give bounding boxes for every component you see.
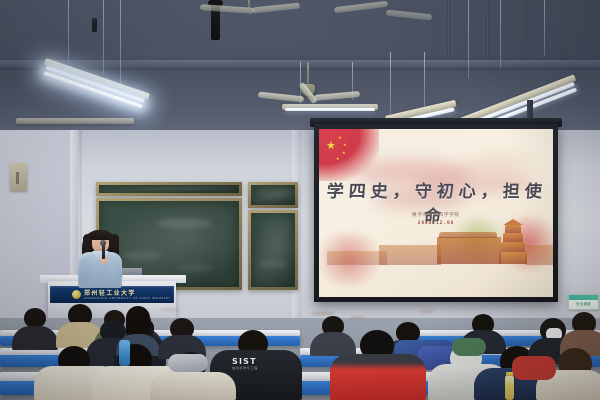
chalkboard-upper-left: [96, 182, 242, 196]
light-suspension-rod: [544, 0, 545, 56]
green-scarf: [452, 338, 486, 356]
artwork-hall-building: [437, 237, 501, 264]
wall-sensor: [92, 18, 97, 32]
sist-jacket-text: SIST: [232, 357, 257, 366]
artwork-foreground: [379, 245, 441, 265]
light-suspension-rod: [68, 0, 69, 62]
light-suspension-rod: [120, 0, 121, 88]
chalkboard-upper-right: [248, 182, 298, 208]
water-bottle: [505, 376, 514, 400]
microphone-head: [100, 240, 106, 246]
light-suspension-rod: [468, 0, 469, 78]
exit-sign-bar: [569, 295, 598, 300]
exit-sign-text: 安全通道: [569, 301, 598, 306]
lectern-banner-text-en: ZHENGZHOU UNIVERSITY OF LIGHT INDUSTRY: [84, 296, 170, 300]
red-garment: [512, 356, 556, 380]
watercolor-smear: [469, 155, 529, 173]
fluorescent-light-far: [16, 118, 134, 124]
light-suspension-rod: [500, 0, 501, 68]
presentation-slide: ★ ★ ★ ★ ★ 学四史，守初心，担使命 数学与信息科学学院 2020.12.…: [319, 129, 553, 297]
lecture-hall-photo: ★ ★ ★ ★ ★ 学四史，守初心，担使命 数学与信息科学学院 2020.12.…: [0, 0, 600, 400]
bag-on-bench: [168, 354, 208, 372]
light-suspension-rod: [103, 0, 104, 74]
water-bottle-blue: [119, 340, 130, 366]
chalkboard-side-right: [248, 210, 298, 290]
sist-jacket-subtext: 信息科学与工程: [232, 366, 258, 370]
projection-screen: ★ ★ ★ ★ ★ 学四史，守初心，担使命 数学与信息科学学院 2020.12.…: [314, 124, 558, 302]
university-emblem: [72, 290, 81, 299]
